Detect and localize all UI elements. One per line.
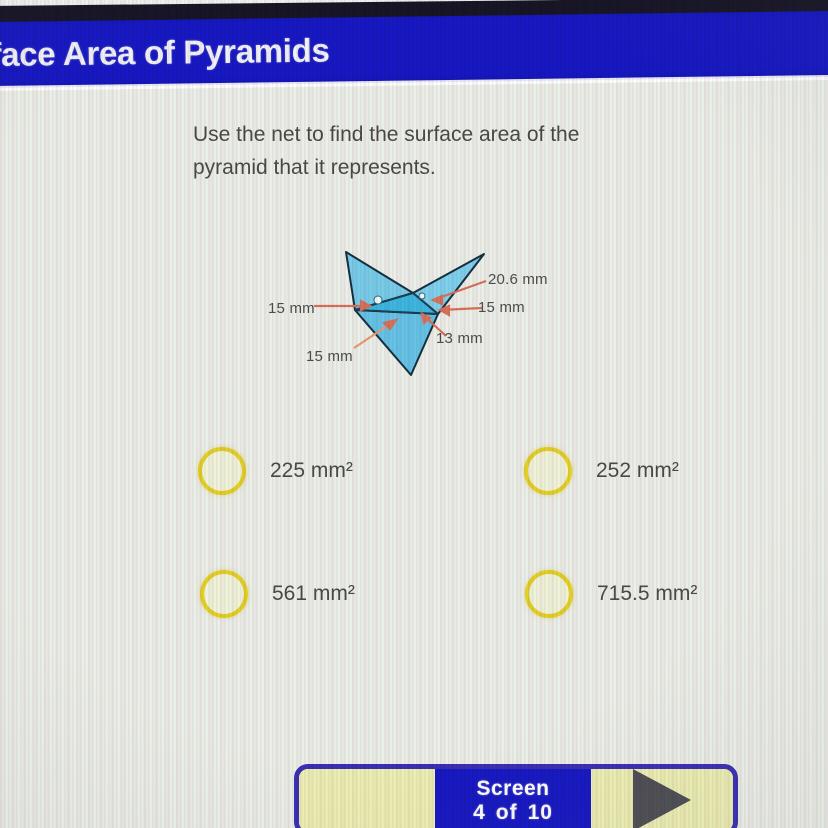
vertex-dot-left bbox=[374, 296, 382, 304]
next-button[interactable] bbox=[591, 769, 733, 828]
screen-counter-numbers: 4of10 bbox=[435, 800, 591, 825]
answer-option-d[interactable]: 715.5 mm² bbox=[525, 570, 697, 618]
screen-counter: Screen 4of10 bbox=[435, 769, 591, 828]
figure-label-base-height: 13 mm bbox=[436, 330, 483, 347]
figure-label-slant-height: 20.6 mm bbox=[488, 271, 548, 288]
right-triangle-arrow-icon bbox=[633, 769, 691, 828]
answer-option-b[interactable]: 252 mm² bbox=[524, 447, 679, 495]
figure-label-edge-bottom: 15 mm bbox=[306, 348, 353, 365]
page-title: face Area of Pyramids bbox=[0, 32, 330, 74]
answer-label-d: 715.5 mm² bbox=[597, 582, 697, 606]
net-figure: 20.6 mm 15 mm 15 mm 13 mm 15 mm bbox=[250, 238, 610, 388]
screen-counter-word: Screen bbox=[435, 777, 591, 800]
answer-label-b: 252 mm² bbox=[596, 459, 679, 483]
quiz-screen: face Area of Pyramids Use the net to fin… bbox=[0, 0, 828, 828]
answer-label-c: 561 mm² bbox=[272, 582, 355, 606]
screen-of: of bbox=[496, 801, 518, 824]
figure-label-edge-right: 15 mm bbox=[478, 299, 525, 316]
bottom-navigation-bar: Screen 4of10 bbox=[294, 764, 738, 828]
radio-button-b[interactable] bbox=[524, 447, 572, 495]
radio-button-a[interactable] bbox=[198, 447, 246, 495]
radio-button-d[interactable] bbox=[525, 570, 573, 618]
vertex-dot-right bbox=[419, 293, 425, 299]
answer-option-a[interactable]: 225 mm² bbox=[198, 447, 353, 495]
screen-total: 10 bbox=[528, 801, 553, 824]
previous-button[interactable] bbox=[299, 769, 435, 828]
radio-button-c[interactable] bbox=[200, 570, 248, 618]
answer-label-a: 225 mm² bbox=[270, 459, 353, 483]
figure-label-edge-left: 15 mm bbox=[268, 300, 315, 317]
answer-option-c[interactable]: 561 mm² bbox=[200, 570, 355, 618]
screen-current: 4 bbox=[473, 801, 486, 824]
question-text: Use the net to find the surface area of … bbox=[193, 118, 643, 184]
